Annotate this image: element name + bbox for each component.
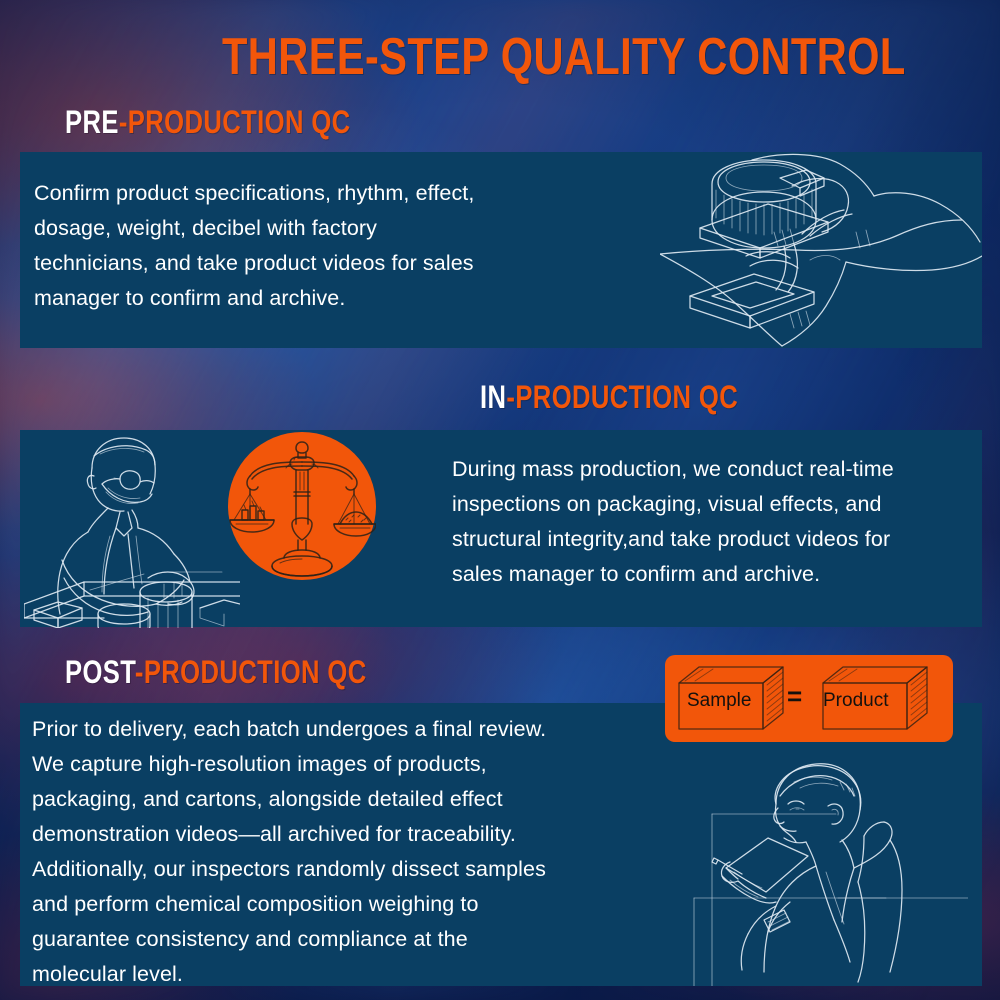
step-heading-in: IN-PRODUCTION QC (480, 378, 738, 416)
step-heading-pre-white: PRE (65, 104, 119, 140)
sample-equals-product-badge: Sample = Product (665, 655, 953, 742)
sample-box-label: Sample (687, 691, 751, 710)
balance-scale-icon (228, 432, 376, 580)
step-body-post: Prior to delivery, each batch undergoes … (32, 712, 662, 992)
product-box-label: Product (823, 691, 888, 710)
step-heading-in-white: IN (480, 379, 506, 415)
step-heading-post-orange: -PRODUCTION QC (135, 654, 367, 690)
step-heading-pre-orange: -PRODUCTION QC (119, 104, 351, 140)
step-heading-post: POST-PRODUCTION QC (65, 653, 367, 691)
page-title: THREE-STEP QUALITY CONTROL (222, 28, 906, 86)
equals-sign-label: = (787, 687, 802, 706)
step-body-pre: Confirm product specifications, rhythm, … (34, 176, 594, 316)
step-body-in: During mass production, we conduct real-… (452, 452, 982, 592)
step-heading-post-white: POST (65, 654, 135, 690)
step-heading-in-orange: -PRODUCTION QC (506, 379, 738, 415)
step-heading-pre: PRE-PRODUCTION QC (65, 103, 351, 141)
infographic-canvas: THREE-STEP QUALITY CONTROL PRE-PRODUCTIO… (0, 0, 1000, 1000)
